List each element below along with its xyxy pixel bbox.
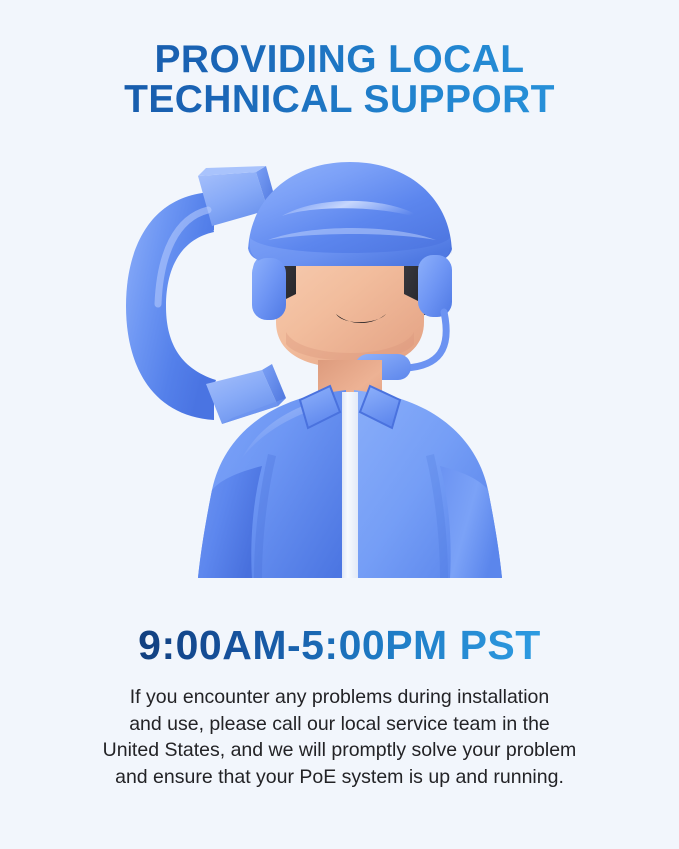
page-title-line-1: PROVIDING LOCAL <box>0 40 679 80</box>
support-description: If you encounter any problems during ins… <box>40 684 640 790</box>
blue-cap <box>248 162 452 266</box>
page-title-line-2: TECHNICAL SUPPORT <box>0 80 679 120</box>
support-hours: 9:00AM-5:00PM PST <box>138 623 541 667</box>
support-agent-illustration <box>0 154 679 609</box>
support-description-line-3: United States, and we will promptly solv… <box>40 737 640 764</box>
support-description-line-2: and use, please call our local service t… <box>40 711 640 738</box>
support-description-line-1: If you encounter any problems during ins… <box>40 684 640 711</box>
page-title: PROVIDING LOCAL TECHNICAL SUPPORT <box>0 40 679 120</box>
support-poster: PROVIDING LOCAL TECHNICAL SUPPORT <box>0 0 679 849</box>
support-description-line-4: and ensure that your PoE system is up an… <box>40 764 640 791</box>
headset-left-earcup-front <box>252 258 286 320</box>
headset-right-earcup <box>418 255 452 317</box>
illustration-container <box>0 154 679 609</box>
jacket-zipper-strip <box>342 392 358 578</box>
